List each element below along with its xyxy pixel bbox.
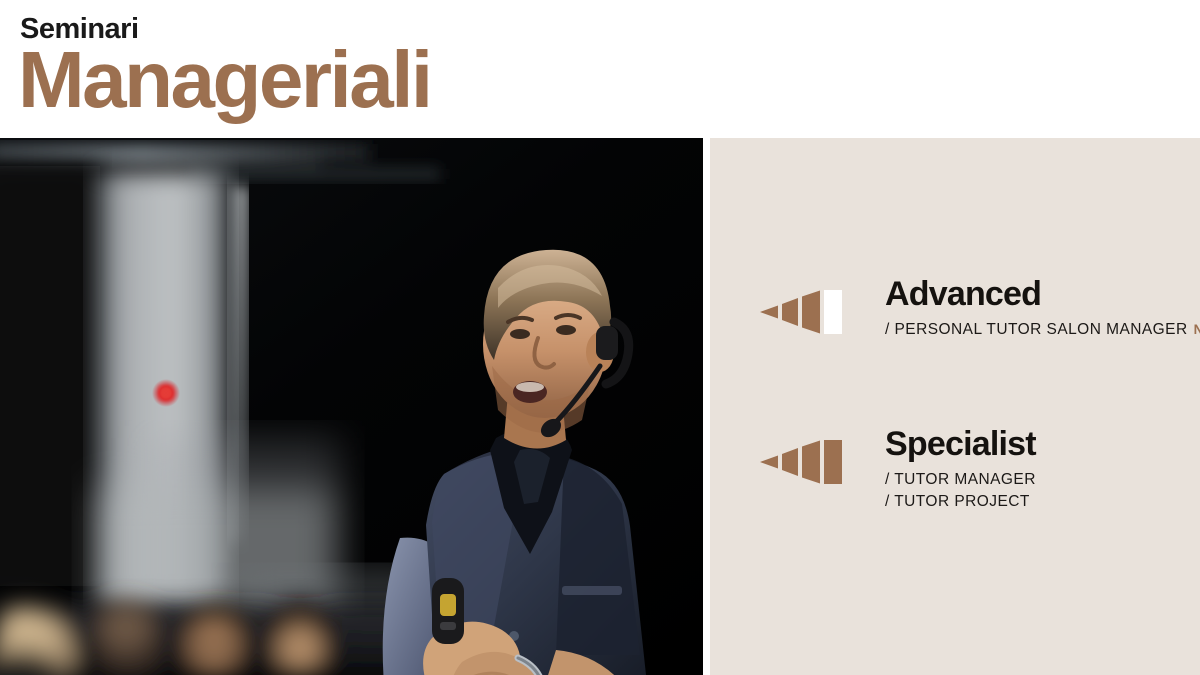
course-list-advanced: / PERSONAL TUTOR SALON MANAGERNEW bbox=[885, 319, 1200, 341]
chevron-arrow-4of4-icon bbox=[760, 440, 846, 484]
level-title-specialist: Specialist bbox=[885, 426, 1036, 463]
course-label: / TUTOR PROJECT bbox=[885, 493, 1030, 510]
course-label: / PERSONAL TUTOR SALON MANAGER bbox=[885, 321, 1188, 338]
status-badge: NEW bbox=[1194, 322, 1200, 337]
course-label: / TUTOR MANAGER bbox=[885, 471, 1036, 488]
speaker-photo bbox=[0, 138, 703, 675]
course-item[interactable]: / TUTOR PROJECT bbox=[885, 491, 1036, 513]
course-item[interactable]: / PERSONAL TUTOR SALON MANAGERNEW bbox=[885, 319, 1200, 341]
page-title: Manageriali bbox=[18, 40, 431, 120]
levels-panel: Advanced / PERSONAL TUTOR SALON MANAGERN… bbox=[710, 138, 1200, 675]
speaker-photo-illustration bbox=[0, 138, 703, 675]
slide-header: Seminari Manageriali bbox=[0, 0, 1200, 138]
slide-root: Seminari Manageriali bbox=[0, 0, 1200, 675]
level-title-advanced: Advanced bbox=[885, 276, 1041, 313]
course-list-specialist: / TUTOR MANAGER / TUTOR PROJECT bbox=[885, 469, 1036, 513]
course-item[interactable]: / TUTOR MANAGER bbox=[885, 469, 1036, 491]
chevron-arrow-3of4-icon bbox=[760, 290, 846, 334]
